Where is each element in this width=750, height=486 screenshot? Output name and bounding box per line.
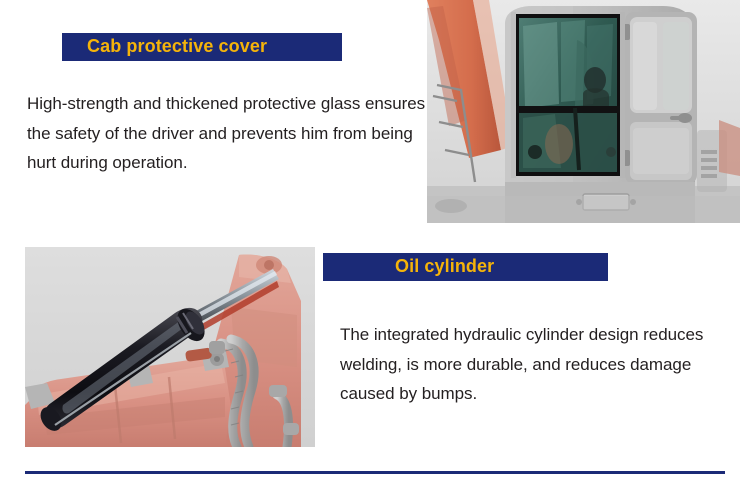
section-body-text-cab-protective-cover: High-strength and thickened protective g… bbox=[27, 89, 427, 178]
excavator-cab-protective-glass-photo bbox=[427, 0, 740, 223]
oil-cylinder-photo-artwork bbox=[25, 247, 315, 447]
section-title-badge-cab-protective-cover: Cab protective cover bbox=[62, 33, 342, 61]
excavator-hydraulic-oil-cylinder-photo bbox=[25, 247, 315, 447]
section-title-badge-oil-cylinder: Oil cylinder bbox=[323, 253, 608, 281]
feature-panel-page: Cab protective cover High-strength and t… bbox=[0, 0, 750, 486]
protective-glass-window bbox=[515, 14, 621, 176]
badge-label-text: Cab protective cover bbox=[87, 36, 267, 56]
cab-rear-door bbox=[623, 12, 697, 184]
bottom-divider-rule bbox=[25, 471, 725, 474]
section-body-text-oil-cylinder: The integrated hydraulic cylinder design… bbox=[340, 320, 730, 409]
badge-label-text: Oil cylinder bbox=[395, 256, 494, 276]
cab-photo-artwork bbox=[427, 0, 740, 223]
